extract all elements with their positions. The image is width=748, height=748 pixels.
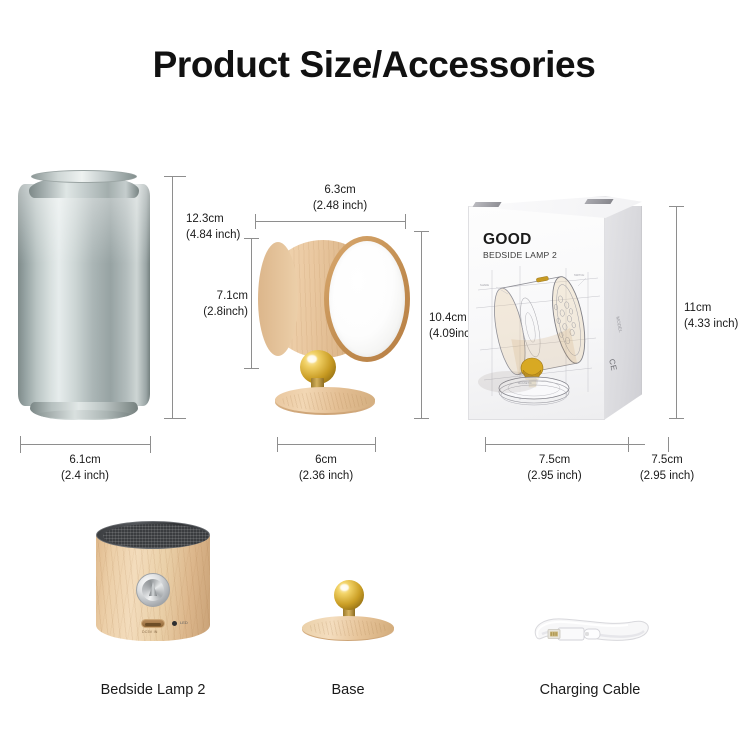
box-flap-right — [584, 199, 613, 204]
lamp-base-wood-grain — [281, 392, 369, 410]
can-height-dimension-line — [172, 176, 173, 418]
accessory-label-cable: Charging Cable — [480, 682, 700, 698]
lamp-base-width-label: 6cm (2.36 inch) — [266, 452, 386, 484]
unit-led-label: LED — [180, 620, 188, 625]
retail-box-illustration: GOOD BEDSIDE LAMP 2 — [468, 196, 643, 422]
page-title: Product Size/Accessories — [0, 44, 748, 86]
can-width-tick-left — [20, 436, 21, 453]
lamp-shade-width-tick-right — [405, 214, 406, 229]
cable-shape — [528, 606, 652, 652]
lamp-shade-width-tick-left — [255, 214, 256, 229]
box-height-tick-bottom — [669, 418, 684, 419]
can-lid — [31, 170, 137, 183]
box-technical-illustration: SHADE SWITCH MAGNETIC — [474, 264, 602, 406]
wooden-base-illustration — [296, 580, 400, 652]
can-width-dimension-line — [20, 444, 150, 445]
lamp-shade-height-tick-top — [244, 238, 259, 239]
aluminum-can-illustration — [18, 170, 150, 420]
can-height-cm: 12.3cm — [186, 211, 264, 227]
lamp-total-height-tick-top — [414, 231, 429, 232]
box-width-tick-left — [485, 437, 486, 452]
lamp-base-width-inch: (2.36 inch) — [266, 468, 386, 484]
box-height-dimension-line — [676, 206, 677, 418]
unit-speaker-mesh — [103, 524, 209, 548]
can-height-tick-bottom — [164, 418, 186, 419]
box-height-cm: 11cm — [684, 300, 748, 316]
box-product-line-text: BEDSIDE LAMP 2 — [483, 250, 557, 260]
box-width-tick-middle — [628, 437, 629, 452]
box-brand-text: GOOD — [483, 231, 532, 249]
box-width-dimension-line — [485, 444, 645, 445]
lamp-shade-width-cm: 6.3cm — [280, 182, 400, 198]
usb-cable-illustration — [528, 606, 652, 652]
lamp-total-height-tick-bottom — [414, 418, 429, 419]
lamp-shade-height-dimension-line — [251, 238, 252, 368]
can-width-cm: 6.1cm — [25, 452, 145, 468]
led-indicator-icon — [172, 621, 177, 626]
bedside-lamp-unit-illustration: LED DC5V IN — [94, 521, 212, 647]
lamp-shade-back-cap — [258, 242, 298, 356]
lamp-shade-width-label: 6.3cm (2.48 inch) — [280, 182, 400, 214]
usb-c-port-icon — [141, 619, 165, 628]
lamp-shade-width-dimension-line — [255, 221, 405, 222]
unit-mesh-top — [96, 521, 210, 549]
box-side-depth-cm: 7.5cm — [613, 452, 721, 468]
accessory-label-lamp: Bedside Lamp 2 — [43, 682, 263, 698]
base-brass-ball — [334, 580, 364, 610]
can-height-tick-top — [164, 176, 186, 177]
box-side-panel — [604, 206, 642, 420]
can-width-tick-right — [150, 436, 151, 453]
unit-port-label: DC5V IN — [142, 630, 158, 634]
lamp-ball-highlight — [307, 355, 317, 363]
svg-text:SHADE: SHADE — [480, 283, 489, 287]
lamp-diffuser-face — [329, 241, 405, 357]
lamp-total-height-dimension-line — [421, 231, 422, 418]
bedside-lamp-illustration — [248, 232, 420, 428]
svg-text:MAGNETIC: MAGNETIC — [518, 381, 532, 385]
box-width-tick-right — [668, 437, 669, 452]
lamp-base-width-cm: 6cm — [266, 452, 386, 468]
accessory-label-base: Base — [238, 682, 458, 698]
lamp-base-width-tick-left — [277, 437, 278, 452]
can-body — [18, 184, 150, 406]
box-flap-left — [472, 202, 501, 207]
box-side-depth-label: 7.5cm (2.95 inch) — [613, 452, 721, 484]
lamp-shade-height-label: 7.1cm (2.8inch) — [198, 288, 248, 320]
can-bottom-rim — [38, 410, 130, 419]
box-side-depth-inch: (2.95 inch) — [613, 468, 721, 484]
box-height-inch: (4.33 inch) — [684, 316, 748, 332]
lamp-shade-height-tick-bottom — [244, 368, 259, 369]
box-front-width-label: 7.5cm (2.95 inch) — [492, 452, 617, 484]
product-size-infographic: Product Size/Accessories 12.3cm (4.84 in… — [0, 0, 748, 748]
lamp-shade-width-inch: (2.48 inch) — [280, 198, 400, 214]
lamp-shade-height-inch: (2.8inch) — [198, 304, 248, 320]
box-height-tick-top — [669, 206, 684, 207]
lamp-shade-height-cm: 7.1cm — [198, 288, 248, 304]
lamp-base-width-tick-right — [375, 437, 376, 452]
box-front-width-inch: (2.95 inch) — [492, 468, 617, 484]
can-width-label: 6.1cm (2.4 inch) — [25, 452, 145, 484]
base-disc-wood-grain — [308, 620, 388, 636]
box-front-width-cm: 7.5cm — [492, 452, 617, 468]
box-height-label: 11cm (4.33 inch) — [684, 300, 748, 332]
can-width-inch: (2.4 inch) — [25, 468, 145, 484]
svg-text:SWITCH: SWITCH — [574, 273, 584, 277]
lamp-base-width-dimension-line — [277, 444, 375, 445]
base-ball-highlight — [340, 584, 349, 591]
